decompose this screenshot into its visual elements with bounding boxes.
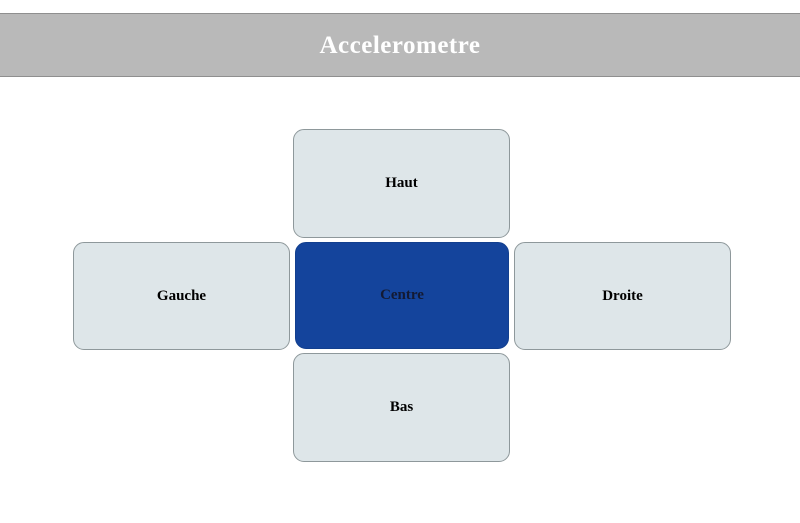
pad-button-bas-label: Bas: [390, 400, 413, 415]
pad-button-centre-label: Centre: [380, 288, 424, 303]
pad-button-bas[interactable]: Bas: [293, 353, 510, 462]
pad-button-gauche-label: Gauche: [157, 289, 206, 304]
direction-pad: Haut Gauche Centre Droite Bas: [0, 77, 800, 523]
pad-button-centre[interactable]: Centre: [295, 242, 509, 349]
page-title: Accelerometre: [319, 33, 480, 58]
pad-button-gauche[interactable]: Gauche: [73, 242, 290, 350]
pad-button-droite[interactable]: Droite: [514, 242, 731, 350]
pad-button-droite-label: Droite: [602, 289, 643, 304]
pad-button-haut[interactable]: Haut: [293, 129, 510, 238]
pad-button-haut-label: Haut: [385, 176, 418, 191]
header-bar: Accelerometre: [0, 13, 800, 77]
